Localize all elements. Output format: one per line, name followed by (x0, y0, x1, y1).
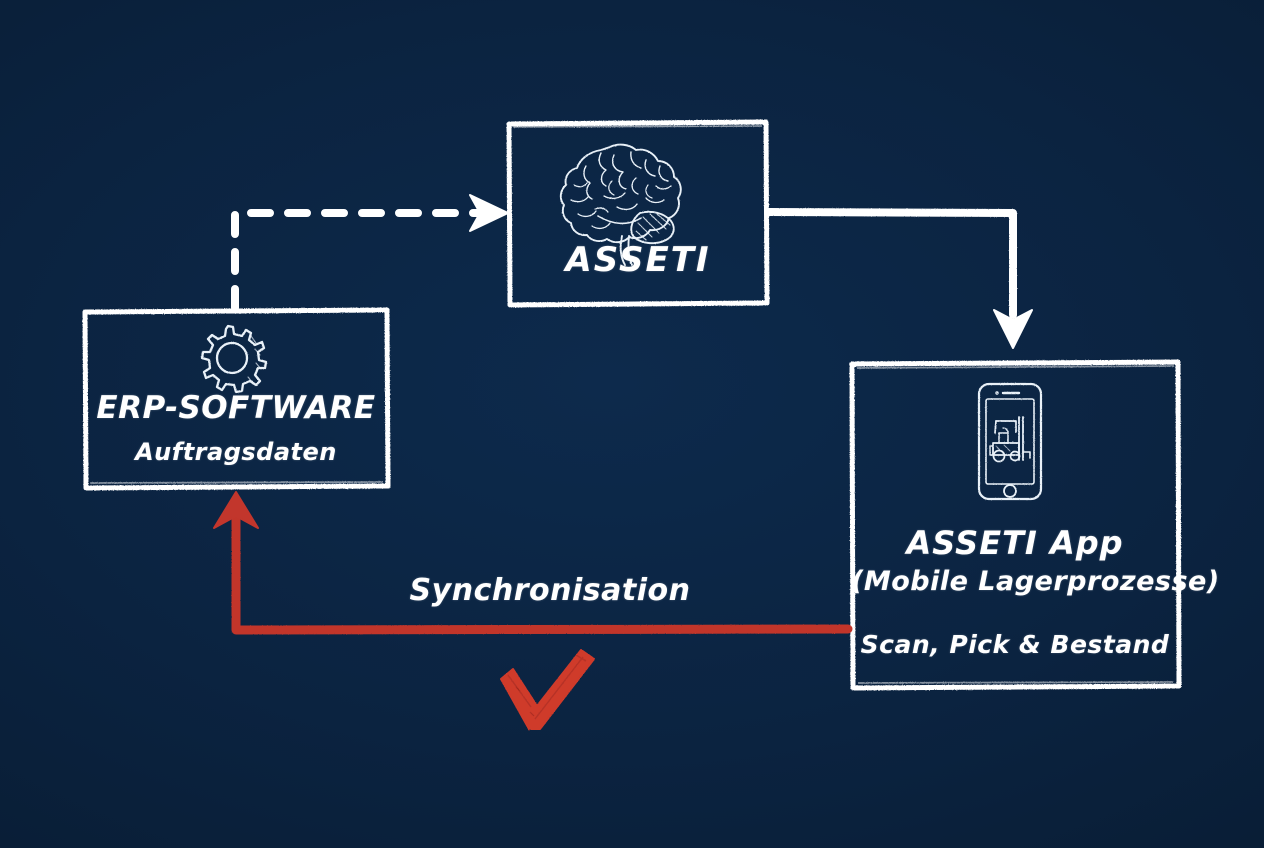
gear-icon (202, 326, 266, 392)
connector-app-to-erp (214, 492, 848, 630)
connector-erp-to-asseti (235, 195, 508, 308)
erp-node-box[interactable] (85, 310, 388, 488)
app-node-box[interactable] (852, 362, 1179, 688)
brain-icon (561, 145, 681, 265)
connector-asseti-to-app (768, 212, 1032, 348)
checkmark-icon (501, 650, 594, 729)
diagram-vector-layer (0, 0, 1264, 848)
diagram-canvas: ASSETI ERP-SOFTWARE Auftragsdaten ASSETI… (0, 0, 1264, 848)
smartphone-forklift-icon (979, 384, 1041, 499)
